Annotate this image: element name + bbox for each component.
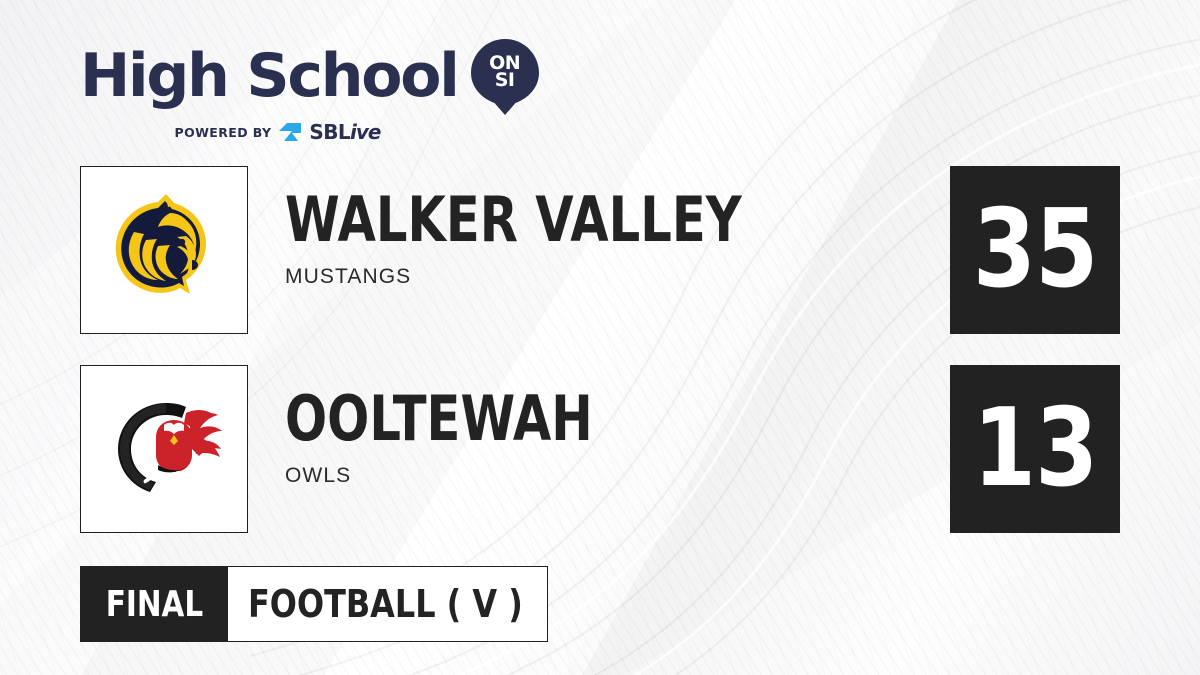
- sblive-s-mark-icon: [278, 122, 302, 142]
- sblive-wordmark: SBLive: [309, 122, 380, 142]
- sport-label: FOOTBALL ( V ): [248, 582, 523, 626]
- sblive-main: SBL: [309, 120, 350, 144]
- sport-label-box: FOOTBALL ( V ): [228, 566, 548, 642]
- status-bar: FINAL FOOTBALL ( V ): [80, 566, 548, 642]
- team-logo-box: [80, 166, 248, 334]
- game-status-badge: FINAL: [80, 566, 228, 642]
- brand-lockup: High School ON SI POWERED BY SBLive: [80, 36, 540, 142]
- powered-by-row: POWERED BY SBLive: [80, 122, 475, 142]
- pin-label-line2: SI: [470, 72, 540, 89]
- brand-title-row: High School ON SI: [80, 36, 540, 116]
- team-row: WALKER VALLEY MUSTANGS 35: [80, 166, 1120, 334]
- team-mascot: OWLS: [285, 464, 670, 488]
- team-score-box: 13: [950, 365, 1120, 533]
- team-text-block: WALKER VALLEY MUSTANGS: [285, 190, 856, 289]
- team-logo-box: [80, 365, 248, 533]
- on-si-pin-icon: ON SI: [470, 38, 540, 116]
- sblive-tail: ive: [350, 120, 380, 144]
- pin-label: ON SI: [470, 38, 540, 90]
- owl-logo-icon: [94, 379, 234, 519]
- brand-title: High School: [80, 46, 458, 106]
- mustang-head-logo-icon: [94, 180, 234, 320]
- team-mascot: MUSTANGS: [285, 265, 856, 289]
- pin-label-line1: ON: [470, 38, 540, 72]
- powered-by-label: POWERED BY: [175, 125, 272, 140]
- team-text-block: OOLTEWAH OWLS: [285, 389, 670, 488]
- team-score: 35: [973, 196, 1098, 304]
- team-name: OOLTEWAH: [285, 389, 593, 450]
- team-score-box: 35: [950, 166, 1120, 334]
- team-score: 13: [973, 395, 1098, 503]
- team-row: OOLTEWAH OWLS 13: [80, 365, 1120, 533]
- team-name: WALKER VALLEY: [285, 190, 742, 251]
- game-status-label: FINAL: [105, 584, 203, 625]
